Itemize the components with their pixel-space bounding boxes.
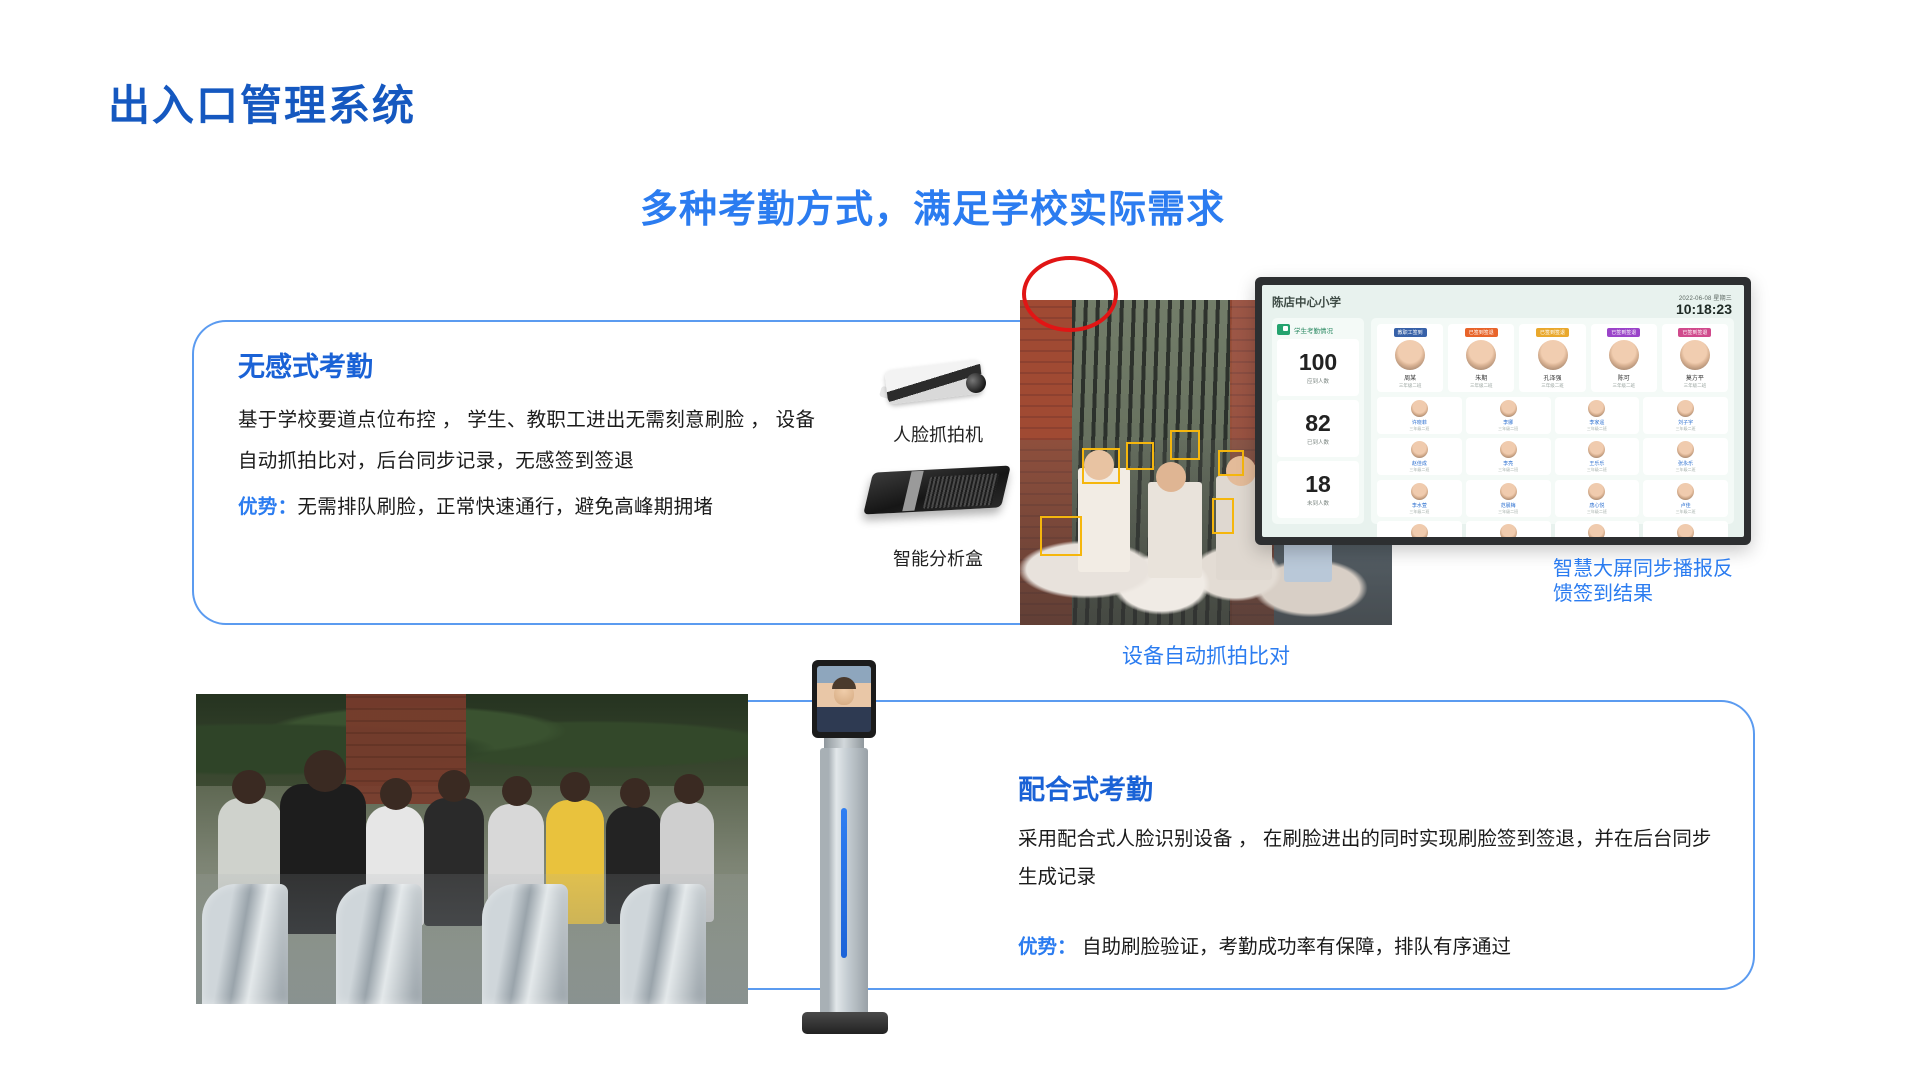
avatar bbox=[1500, 483, 1517, 500]
screen-school-name: 陈店中心小学 bbox=[1272, 294, 1734, 310]
detection-box bbox=[1040, 516, 1082, 556]
roster-person: 赵佳成三年级二班 bbox=[1377, 438, 1462, 475]
person-name: 李水萱 bbox=[1412, 502, 1427, 509]
card1-advantage-text: 无需排队刷脸，正常快速通行，避免高峰期拥堵 bbox=[297, 496, 713, 518]
avatar bbox=[1588, 483, 1605, 500]
person-name: 刘子宇 bbox=[1678, 419, 1693, 426]
status-badge: 已签到签退 bbox=[1607, 328, 1640, 337]
avatar bbox=[1411, 524, 1428, 537]
card1-title: 无感式考勤 bbox=[238, 345, 373, 384]
card1-advantage-label: 优势： bbox=[238, 496, 297, 518]
person-class: 三年级二班 bbox=[1409, 467, 1429, 473]
person-class: 三年级二班 bbox=[1684, 383, 1707, 389]
recognition-feed-panel: 教职工签到 周某 三年级二班 已签到签退 朱期 三年级二班 已签到签 bbox=[1371, 318, 1734, 524]
detection-box bbox=[1126, 442, 1154, 470]
page-subtitle: 多种考勤方式，满足学校实际需求 bbox=[640, 178, 1225, 233]
featured-person-card: 已签到签退 朱期 三年级二班 bbox=[1448, 324, 1514, 392]
page-title: 出入口管理系统 bbox=[108, 72, 416, 133]
roster-person: 刘子宇三年级二班 bbox=[1643, 397, 1728, 434]
avatar bbox=[1677, 483, 1694, 500]
person-class: 三年级二班 bbox=[1470, 383, 1493, 389]
card1-description: 基于学校要道点位布控 ， 学生、教职工进出无需刻意刷脸 ， 设备自动抓拍比对，后… bbox=[238, 400, 818, 481]
person-name: 朱期 bbox=[1475, 373, 1487, 382]
roster-person: 何雨涵三年级二班 bbox=[1555, 521, 1640, 537]
avatar bbox=[1411, 441, 1428, 458]
avatar bbox=[1588, 400, 1605, 417]
card2-advantage-label: 优势： bbox=[1018, 936, 1077, 958]
avatar bbox=[1411, 400, 1428, 417]
attendance-icon bbox=[1277, 324, 1290, 335]
person-class: 三年级二班 bbox=[1498, 426, 1518, 432]
avatar bbox=[1500, 524, 1517, 537]
roster-person: 许晓菲三年级二班 bbox=[1377, 397, 1462, 434]
person-name: 陈可 bbox=[1618, 373, 1630, 382]
stat-label: 未到人数 bbox=[1307, 499, 1329, 507]
avatar bbox=[1677, 400, 1694, 417]
avatar bbox=[1588, 441, 1605, 458]
person-class: 三年级二班 bbox=[1587, 467, 1607, 473]
roster-row-2: 李水萱三年级二班 范晨梅三年级二班 唐心悦三年级二班 卢佳三年级二班 陈俊杰三年… bbox=[1377, 480, 1728, 537]
featured-person-card: 已签到签退 莫方平 三年级二班 bbox=[1662, 324, 1728, 392]
roster-person: 李娜三年级二班 bbox=[1466, 397, 1551, 434]
status-badge: 已签到签退 bbox=[1678, 328, 1711, 337]
featured-person-card: 已签到签退 陈可 三年级二班 bbox=[1591, 324, 1657, 392]
person-name: 周某 bbox=[1404, 373, 1416, 382]
avatar bbox=[1680, 340, 1710, 370]
person-name: 孔泽强 bbox=[1544, 373, 1562, 382]
card1-advantage: 优势：无需排队刷脸，正常快速通行，避免高峰期拥堵 bbox=[238, 487, 818, 528]
person-class: 三年级二班 bbox=[1409, 509, 1429, 515]
kiosk-face-preview bbox=[817, 666, 871, 732]
roster-person: 张永乐三年级二班 bbox=[1643, 438, 1728, 475]
stat-absent: 18 未到人数 bbox=[1277, 461, 1359, 518]
person-name: 范晨梅 bbox=[1501, 502, 1516, 509]
person-class: 三年级二班 bbox=[1676, 426, 1696, 432]
person-name: 卢佳 bbox=[1681, 502, 1691, 509]
person-name: 赵佳成 bbox=[1412, 460, 1427, 467]
device-gallery: 人脸抓拍机 智能分析盒 bbox=[848, 355, 1028, 571]
monitor-screen: 陈店中心小学 2022-06-08 星期三 10:18:23 学生考勤情况 10… bbox=[1262, 285, 1744, 537]
roster-person: 杜小熙三年级二班 bbox=[1643, 521, 1728, 537]
roster-person: 李水萱三年级二班 bbox=[1377, 480, 1462, 517]
camera-highlight-circle bbox=[1022, 256, 1118, 332]
featured-person-card: 已签到签退 孔泽强 三年级二班 bbox=[1519, 324, 1585, 392]
stat-value: 100 bbox=[1299, 351, 1337, 374]
stat-value: 18 bbox=[1305, 473, 1331, 496]
avatar bbox=[1395, 340, 1425, 370]
person-class: 三年级二班 bbox=[1587, 509, 1607, 515]
card1-body: 基于学校要道点位布控 ， 学生、教职工进出无需刻意刷脸 ， 设备自动抓拍比对，后… bbox=[238, 400, 818, 528]
avatar bbox=[1677, 441, 1694, 458]
person-name: 张永乐 bbox=[1678, 460, 1693, 467]
slide-root: 出入口管理系统 多种考勤方式，满足学校实际需求 无感式考勤 基于学校要道点位布控… bbox=[0, 0, 1920, 1080]
person-name: 李家遥 bbox=[1589, 419, 1604, 426]
detection-box bbox=[1082, 448, 1120, 484]
card2-title: 配合式考勤 bbox=[1018, 768, 1153, 807]
person-name: 唐心悦 bbox=[1589, 502, 1604, 509]
smart-display-monitor: 陈店中心小学 2022-06-08 星期三 10:18:23 学生考勤情况 10… bbox=[1255, 277, 1751, 545]
featured-person-card: 教职工签到 周某 三年级二班 bbox=[1377, 324, 1443, 392]
stat-label: 应到人数 bbox=[1307, 377, 1329, 385]
person-class: 三年级二班 bbox=[1676, 467, 1696, 473]
caption-gate-photo: 设备自动抓拍比对 bbox=[1020, 640, 1392, 670]
avatar bbox=[1609, 340, 1639, 370]
person-class: 三年级二班 bbox=[1498, 509, 1518, 515]
card2-advantage: 优势： 自助刷脸验证，考勤成功率有保障，排队有序通过 bbox=[1018, 930, 1511, 959]
caption-screen-photo: 智慧大屏同步播报反馈签到结果 bbox=[1553, 557, 1743, 607]
avatar bbox=[1500, 441, 1517, 458]
stats-panel-title: 学生考勤情况 bbox=[1294, 325, 1333, 335]
roster-person: 王思琪三年级二班 bbox=[1466, 521, 1551, 537]
stat-label: 已到人数 bbox=[1307, 438, 1329, 446]
status-badge: 已签到签退 bbox=[1465, 328, 1498, 337]
status-badge: 教职工签到 bbox=[1394, 328, 1427, 337]
person-class: 三年级二班 bbox=[1612, 383, 1635, 389]
stat-present: 82 已到人数 bbox=[1277, 400, 1359, 457]
roster-person: 唐心悦三年级二班 bbox=[1555, 480, 1640, 517]
person-class: 三年级二班 bbox=[1399, 383, 1422, 389]
person-class: 三年级二班 bbox=[1498, 467, 1518, 473]
roster-person: 王乐乐三年级二班 bbox=[1555, 438, 1640, 475]
screen-clock: 2022-06-08 星期三 10:18:23 bbox=[1676, 293, 1732, 317]
roster-person: 范晨梅三年级二班 bbox=[1466, 480, 1551, 517]
avatar bbox=[1411, 483, 1428, 500]
detection-box bbox=[1212, 498, 1234, 534]
avatar bbox=[1677, 524, 1694, 537]
device-label-box: 智能分析盒 bbox=[848, 545, 1028, 571]
avatar bbox=[1538, 340, 1568, 370]
face-recognition-kiosk bbox=[790, 660, 900, 1040]
roster-person: 李亮三年级二班 bbox=[1466, 438, 1551, 475]
status-badge: 已签到签退 bbox=[1536, 328, 1569, 337]
turnstile-queue-photo bbox=[196, 694, 748, 1004]
roster-row-1: 许晓菲三年级二班 李娜三年级二班 李家遥三年级二班 刘子宇三年级二班 赵佳成三年… bbox=[1377, 397, 1728, 475]
attendance-stats-panel: 学生考勤情况 100 应到人数 82 已到人数 18 未到人数 bbox=[1272, 318, 1364, 524]
stat-value: 82 bbox=[1305, 412, 1331, 435]
person-name: 王乐乐 bbox=[1589, 460, 1604, 467]
screen-time: 10:18:23 bbox=[1676, 302, 1732, 317]
bullet-camera-icon bbox=[878, 355, 998, 413]
avatar bbox=[1588, 524, 1605, 537]
person-class: 三年级二班 bbox=[1676, 509, 1696, 515]
avatar bbox=[1466, 340, 1496, 370]
person-class: 三年级二班 bbox=[1541, 383, 1564, 389]
stat-expected: 100 应到人数 bbox=[1277, 339, 1359, 396]
analysis-box-icon bbox=[863, 461, 1013, 535]
kiosk-led-strip bbox=[841, 808, 847, 958]
person-name: 许晓菲 bbox=[1412, 419, 1427, 426]
card2-advantage-text: 自助刷脸验证，考勤成功率有保障，排队有序通过 bbox=[1082, 936, 1511, 958]
person-name: 李亮 bbox=[1503, 460, 1513, 467]
kiosk-screen bbox=[812, 660, 876, 738]
person-class: 三年级二班 bbox=[1587, 426, 1607, 432]
card2-description: 采用配合式人脸识别设备 ， 在刷脸进出的同时实现刷脸签到签退，并在后台同步生成记… bbox=[1018, 820, 1718, 896]
device-label-camera: 人脸抓拍机 bbox=[848, 421, 1028, 447]
roster-person: 李家遥三年级二班 bbox=[1555, 397, 1640, 434]
person-name: 莫方平 bbox=[1686, 373, 1704, 382]
detection-box bbox=[1218, 450, 1244, 476]
person-class: 三年级二班 bbox=[1409, 426, 1429, 432]
roster-person: 陈俊杰三年级二班 bbox=[1377, 521, 1462, 537]
detection-box bbox=[1170, 430, 1200, 460]
person-name: 李娜 bbox=[1503, 419, 1513, 426]
roster-person: 卢佳三年级二班 bbox=[1643, 480, 1728, 517]
featured-row: 教职工签到 周某 三年级二班 已签到签退 朱期 三年级二班 已签到签 bbox=[1377, 324, 1728, 392]
avatar bbox=[1500, 400, 1517, 417]
